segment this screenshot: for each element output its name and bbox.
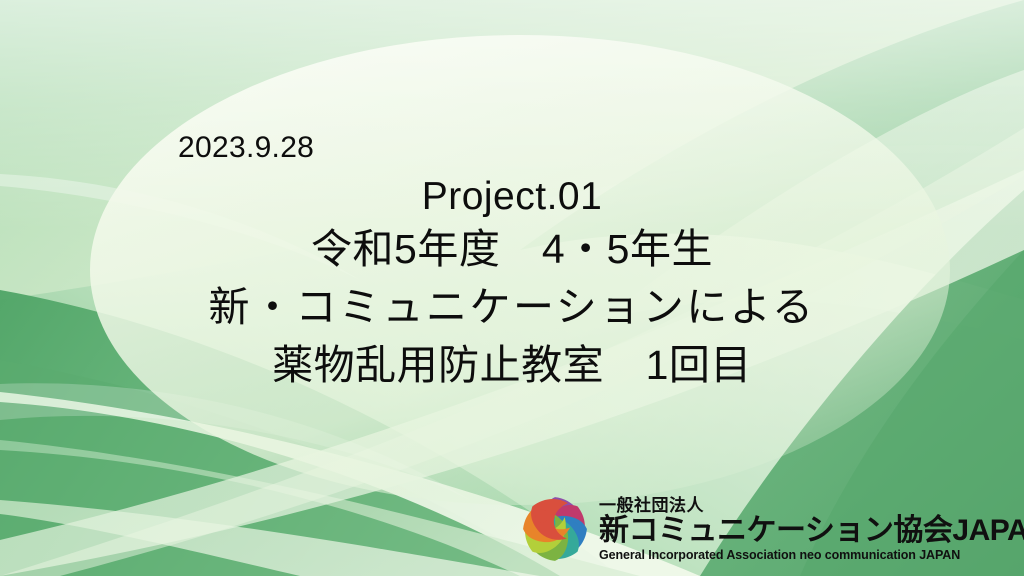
logo-entity-type: 一般社団法人 <box>599 497 1024 514</box>
presentation-slide: 2023.9.28 Project.01 令和5年度 4・5年生 新・コミュニケ… <box>0 0 1024 576</box>
logo-organization-name-jp: 新コミュニケーション協会JAPAN <box>599 516 1024 546</box>
slide-date: 2023.9.28 <box>178 131 314 164</box>
organization-logo: 一般社団法人 新コミュニケーション協会JAPAN General Incorpo… <box>517 491 937 567</box>
logo-wordmark: 一般社団法人 新コミュニケーション協会JAPAN General Incorpo… <box>599 497 1024 562</box>
slide-title-block: Project.01 令和5年度 4・5年生 新・コミュニケーションによる 薬物… <box>0 174 1024 395</box>
pinwheel-people-icon <box>517 491 593 567</box>
logo-organization-name-en: General Incorporated Association neo com… <box>599 549 1024 562</box>
title-line-class: 薬物乱用防止教室 1回目 <box>0 336 1024 394</box>
title-line-project: Project.01 <box>0 174 1024 220</box>
title-line-communication: 新・コミュニケーションによる <box>0 278 1024 336</box>
title-line-grade: 令和5年度 4・5年生 <box>0 220 1024 278</box>
